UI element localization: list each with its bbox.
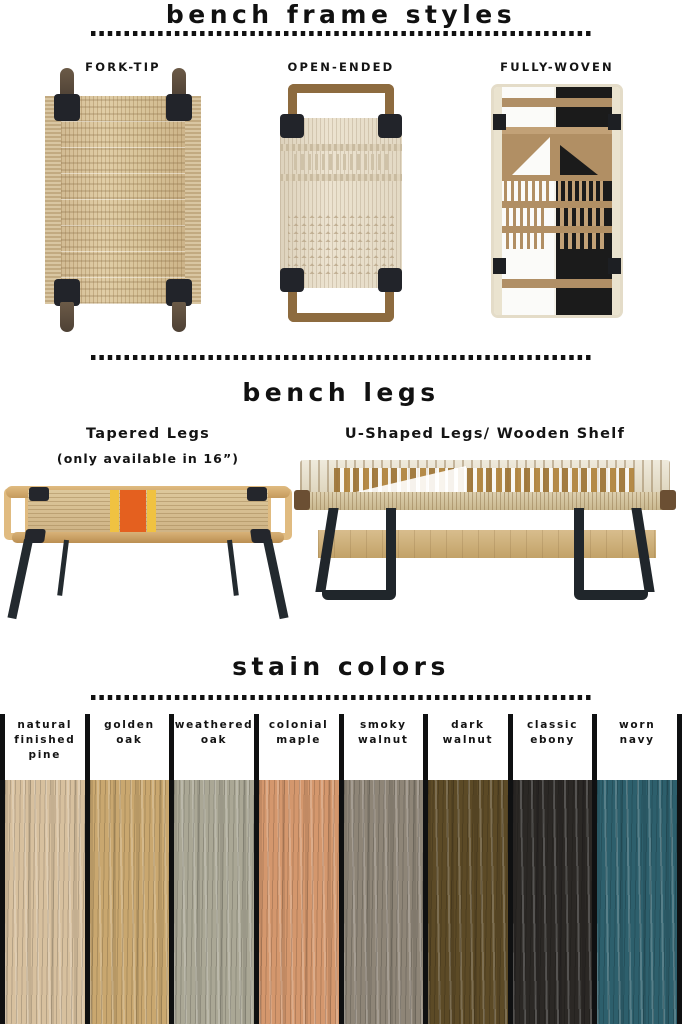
legs-option-label: Tapered Legs	[0, 426, 296, 442]
frame-option-label: OPEN-ENDED	[236, 60, 446, 74]
swatch-label: worn navy	[597, 714, 677, 780]
corner-bracket	[247, 487, 267, 501]
open-ended-bench-image	[276, 84, 406, 322]
rope-comb-pattern	[294, 154, 388, 170]
swatch-label: colonial maple	[259, 714, 339, 780]
frame-option-fully-woven[interactable]: FULLY-WOVEN	[452, 60, 662, 318]
woven-jute-seat	[61, 96, 185, 304]
swatch-label: weathered oak	[174, 714, 254, 780]
swatch-color-chip[interactable]	[90, 780, 170, 1024]
woven-geometric-seat	[491, 84, 623, 318]
corner-bracket	[54, 94, 80, 121]
bench-legs-section: bench legs Tapered Legs (only available …	[0, 352, 682, 642]
stain-swatch-dark-walnut[interactable]: dark walnut	[428, 714, 508, 1024]
u-shaped-legs-bench-image	[292, 456, 678, 602]
rope-band	[280, 174, 402, 181]
tapered-leg-tip-icon	[60, 302, 74, 332]
stain-swatch-worn-navy[interactable]: worn navy	[597, 714, 677, 1024]
yellow-stripe	[110, 490, 119, 538]
stain-swatch-natural-finished-pine[interactable]: natural finished pine	[5, 714, 85, 1024]
u-shaped-leg-right	[574, 508, 648, 600]
corner-bracket	[29, 487, 49, 501]
stain-section-title: stain colors	[0, 654, 682, 679]
stain-swatch-weathered-oak[interactable]: weathered oak	[174, 714, 254, 1024]
chevron-weave-pattern	[288, 210, 394, 276]
wood-end-cap	[294, 490, 310, 510]
tapered-leg-front	[263, 539, 288, 619]
yellow-stripe	[147, 490, 156, 538]
swatch-label: classic ebony	[513, 714, 593, 780]
swatch-color-chip[interactable]	[513, 780, 593, 1024]
swatch-color-chip[interactable]	[344, 780, 424, 1024]
frame-option-open-ended[interactable]: OPEN-ENDED	[236, 60, 446, 322]
fork-tip-bench-image	[43, 84, 203, 316]
tapered-legs-bench-image	[2, 480, 294, 620]
corner-bracket	[378, 114, 402, 138]
swatch-color-chip[interactable]	[174, 780, 254, 1024]
tapered-leg-rear	[227, 540, 239, 596]
stain-colors-section: stain colors natural finished pine golde…	[0, 642, 682, 1024]
woven-rope-seat	[280, 118, 402, 288]
corner-bracket	[280, 114, 304, 138]
corner-bracket	[608, 114, 621, 130]
orange-stripe	[120, 490, 146, 538]
u-shaped-leg-left	[322, 508, 396, 600]
tapered-leg-tip-icon	[172, 302, 186, 332]
tapered-leg-front	[7, 539, 32, 619]
legs-option-sublabel: (only available in 16”)	[0, 451, 296, 466]
swatch-color-chip[interactable]	[428, 780, 508, 1024]
stain-swatch-classic-ebony[interactable]: classic ebony	[513, 714, 593, 1024]
legs-option-u-shaped[interactable]: U-Shaped Legs/ Wooden Shelf	[288, 426, 682, 602]
swatch-label: natural finished pine	[5, 714, 85, 780]
frame-option-fork-tip[interactable]: FORK-TIP	[23, 60, 223, 316]
frames-section-title: bench frame styles	[0, 2, 682, 27]
corner-bracket	[493, 114, 506, 130]
rope-band	[280, 144, 402, 151]
corner-bracket	[493, 258, 506, 274]
dotted-divider	[91, 31, 591, 36]
swatch-label: dark walnut	[428, 714, 508, 780]
swatch-label: smoky walnut	[344, 714, 424, 780]
legs-option-tapered[interactable]: Tapered Legs (only available in 16”)	[0, 426, 296, 620]
stain-swatch-smoky-walnut[interactable]: smoky walnut	[344, 714, 424, 1024]
side-rail	[45, 96, 62, 304]
stain-swatch-golden-oak[interactable]: golden oak	[90, 714, 170, 1024]
wood-end-cap	[660, 490, 676, 510]
dotted-divider	[91, 355, 591, 360]
frame-option-label: FULLY-WOVEN	[452, 60, 662, 74]
corner-bracket	[280, 268, 304, 292]
corner-bracket	[166, 94, 192, 121]
fully-woven-bench-image	[491, 84, 623, 318]
legs-section-title: bench legs	[0, 380, 682, 405]
swatch-color-chip[interactable]	[259, 780, 339, 1024]
wood-front-rail	[12, 532, 284, 543]
corner-bracket	[608, 258, 621, 274]
corner-bracket	[378, 268, 402, 292]
side-rail	[184, 96, 201, 304]
swatch-color-chip[interactable]	[597, 780, 677, 1024]
stain-swatch-colonial-maple[interactable]: colonial maple	[259, 714, 339, 1024]
swatch-divider-bar	[677, 714, 682, 1024]
tapered-leg-rear	[57, 540, 69, 596]
swatch-label: golden oak	[90, 714, 170, 780]
swatch-color-chip[interactable]	[5, 780, 85, 1024]
dotted-divider	[91, 695, 591, 700]
woven-pattern-graphic	[494, 87, 620, 315]
bench-frame-styles-section: bench frame styles FORK-TIP OPEN-ENDED	[0, 0, 682, 352]
frame-option-label: FORK-TIP	[23, 60, 223, 74]
legs-option-label: U-Shaped Legs/ Wooden Shelf	[288, 426, 682, 442]
stain-swatch-grid: natural finished pine golden oak weather…	[0, 714, 682, 1024]
